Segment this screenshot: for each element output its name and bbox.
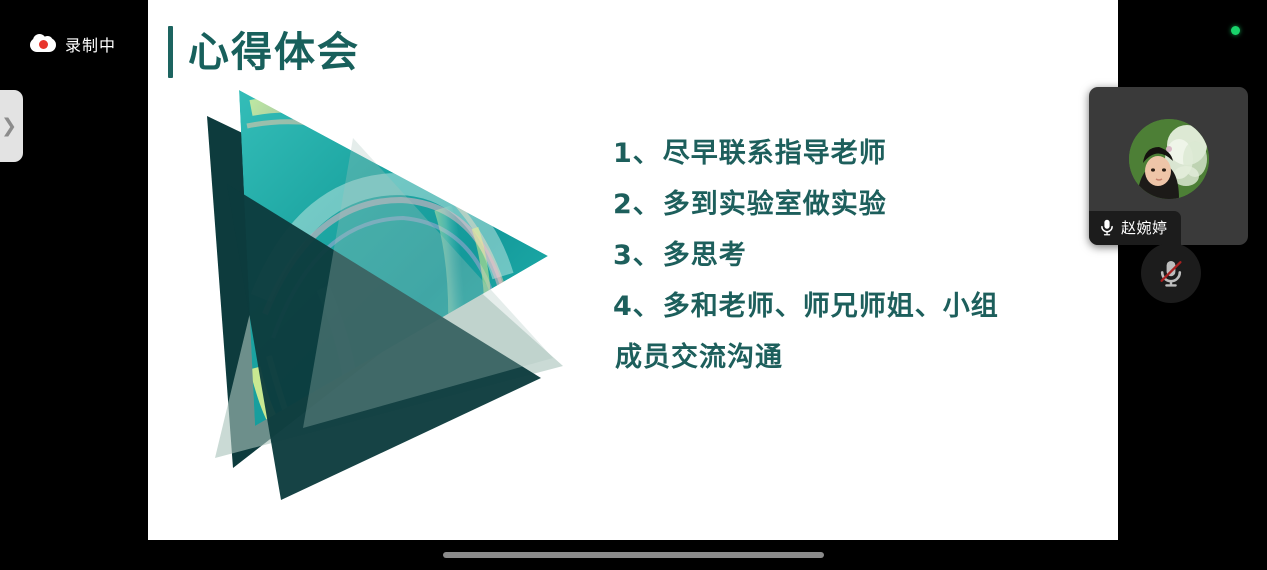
- microphone-muted-icon: [1154, 256, 1188, 290]
- participant-name: 赵婉婷: [1121, 217, 1168, 238]
- list-item: 4、多和老师、师兄师姐、小组: [613, 281, 1083, 332]
- list-item: 1、尽早联系指导老师: [613, 128, 1083, 179]
- participant-video-tile[interactable]: 赵婉婷: [1089, 87, 1248, 245]
- slide-title-group: 心得体会: [168, 26, 360, 78]
- title-accent-bar: [168, 26, 173, 78]
- participant-name-badge: 赵婉婷: [1089, 211, 1181, 245]
- list-item-number: 1、: [613, 138, 661, 169]
- page-title: 心得体会: [188, 32, 360, 73]
- expand-panel-button[interactable]: ❯: [0, 90, 23, 162]
- list-item-number: 2、: [613, 189, 661, 220]
- mute-toggle-button[interactable]: [1141, 243, 1201, 303]
- list-item-number: 4、: [613, 291, 661, 322]
- left-rail: 录制中 ❯: [0, 0, 148, 570]
- cloud-record-icon: [30, 34, 56, 54]
- chevron-right-icon: ❯: [1, 117, 17, 136]
- list-item-text: 成员交流沟通: [615, 342, 783, 373]
- slide-bullet-list: 1、尽早联系指导老师 2、多到实验室做实验 3、多思考 4、多和老师、师兄师姐、…: [613, 128, 1083, 383]
- shared-slide[interactable]: 心得体会: [148, 0, 1118, 540]
- abstract-triangles-graphic: [203, 88, 643, 508]
- microphone-icon: [1100, 219, 1114, 236]
- list-item-text: 多到实验室做实验: [663, 189, 887, 220]
- recording-label: 录制中: [65, 32, 116, 56]
- list-item-text: 尽早联系指导老师: [663, 138, 887, 169]
- recording-indicator: 录制中: [30, 32, 116, 56]
- list-item: 2、多到实验室做实验: [613, 179, 1083, 230]
- list-item: 成员交流沟通: [613, 332, 1083, 383]
- list-item-text: 多思考: [663, 240, 747, 271]
- horizontal-scrollbar[interactable]: [443, 552, 824, 558]
- meeting-screen-share-view: 录制中 ❯ 心得体会: [0, 0, 1267, 570]
- list-item: 3、多思考: [613, 230, 1083, 281]
- list-item-number: 3、: [613, 240, 661, 271]
- network-status-dot: [1231, 26, 1240, 35]
- avatar: [1129, 119, 1209, 199]
- list-item-text: 多和老师、师兄师姐、小组: [663, 291, 999, 322]
